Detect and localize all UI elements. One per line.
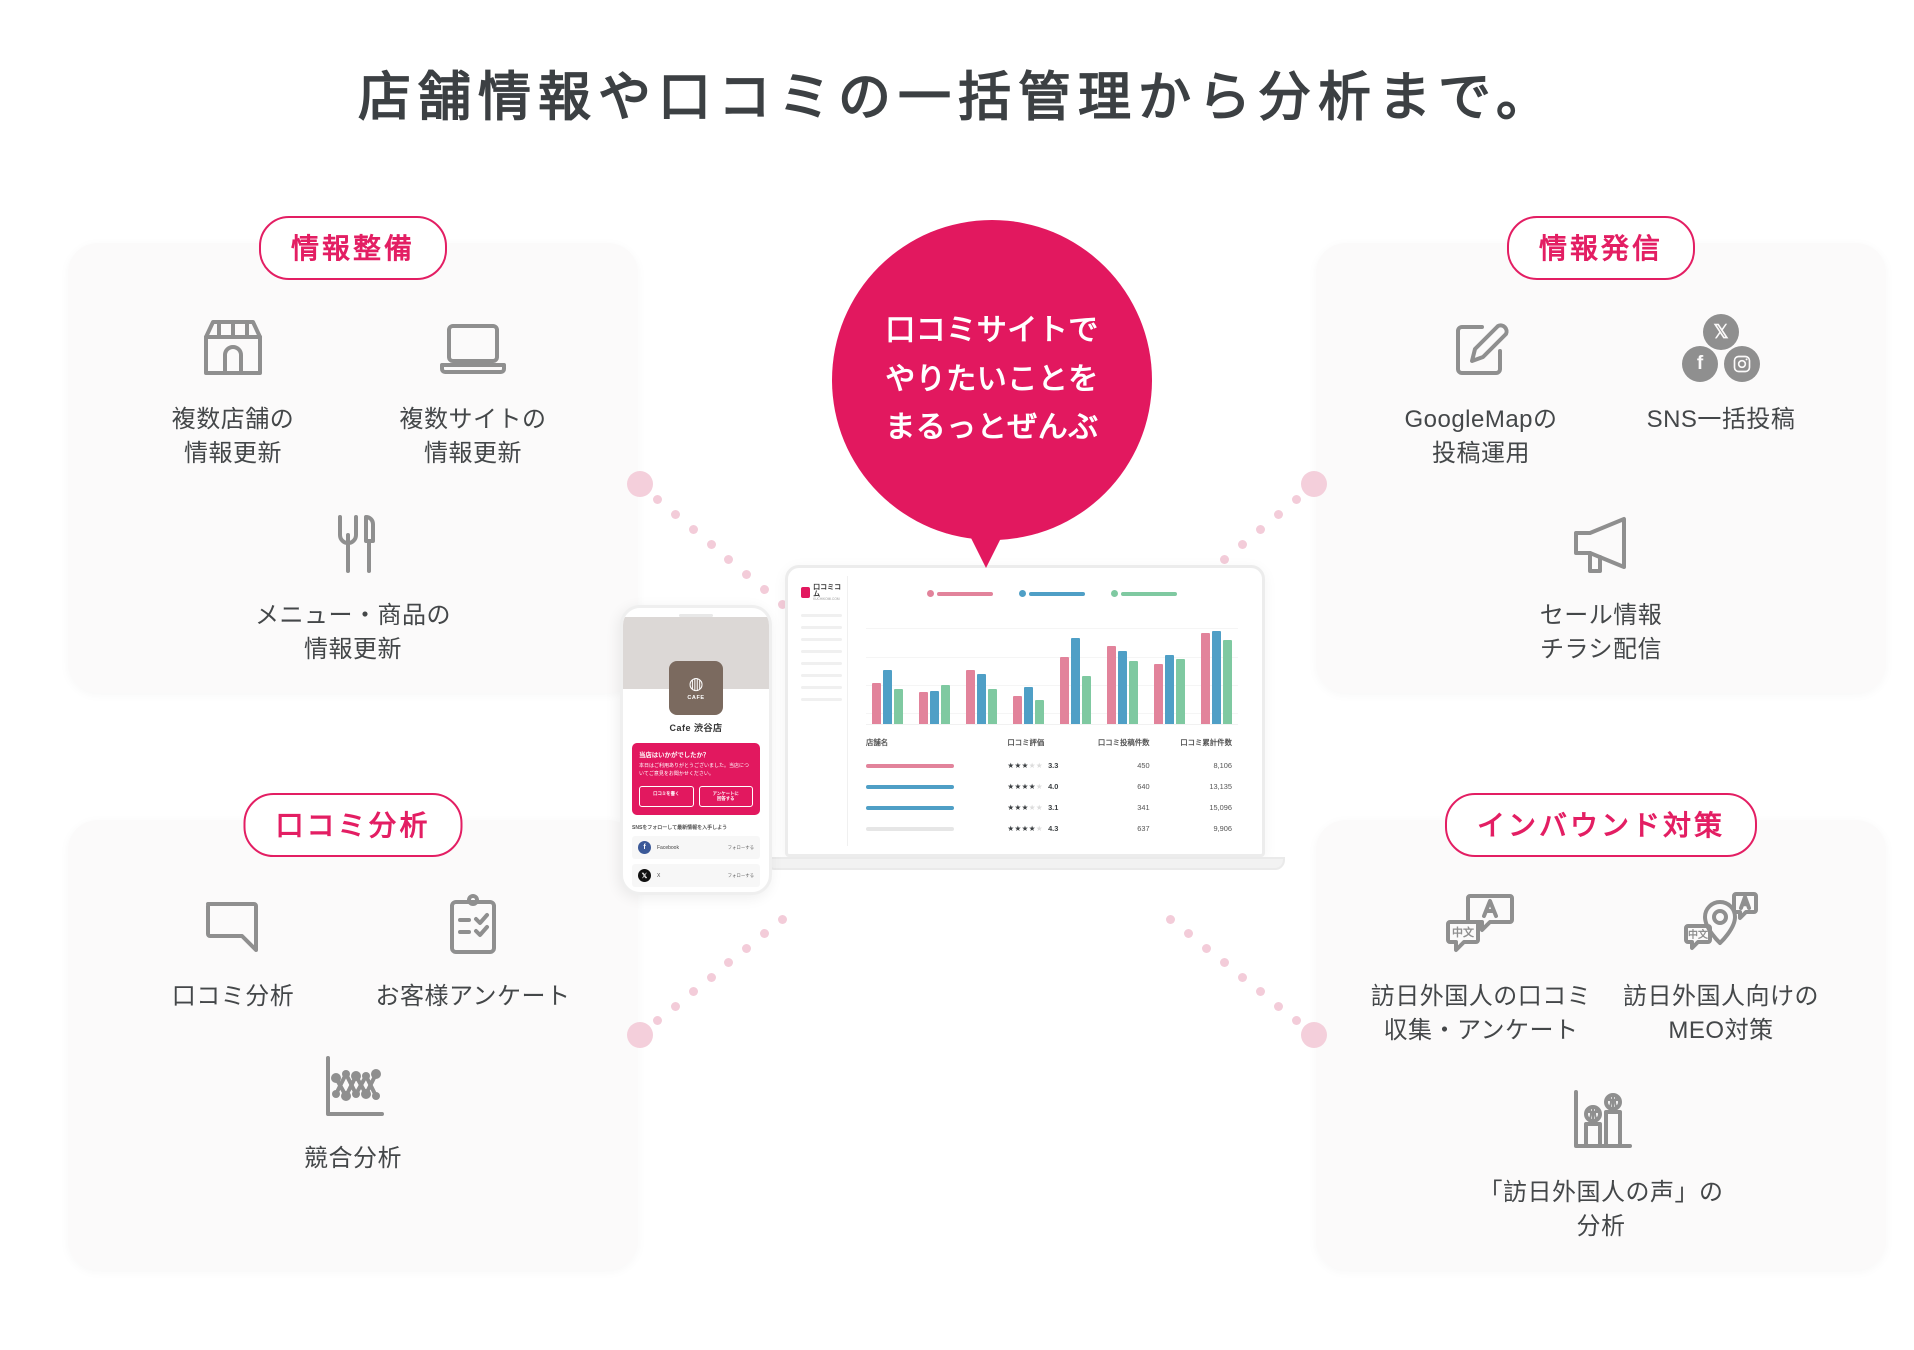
bar-group <box>1013 687 1044 724</box>
review-total-cell: 8,106 <box>1164 761 1238 770</box>
connector-dot <box>1238 973 1247 982</box>
bar-group <box>1107 646 1138 724</box>
store-name-cell <box>866 827 1007 831</box>
connector-dot <box>1238 540 1247 549</box>
review-count-cell: 637 <box>1089 824 1163 833</box>
connector-dot <box>671 510 680 519</box>
survey-buttons: 口コミを書くアンケートに 回答する <box>639 786 753 808</box>
sns-follow-row[interactable]: 𝕏Xフォローする <box>632 864 760 887</box>
connector-dot <box>1220 958 1229 967</box>
connector-dot <box>671 1002 680 1011</box>
feature-menu-product-update[interactable]: メニュー・商品の 情報更新 <box>68 501 638 667</box>
feature-foreign-voice-analysis[interactable]: 「訪日外国人の声」の 分析 <box>1316 1078 1886 1244</box>
table-column-header: 口コミ評価 <box>1007 737 1089 748</box>
feature-label: メニュー・商品の 情報更新 <box>255 599 451 667</box>
connector-dot <box>653 495 662 504</box>
feature-sns-bulk-post[interactable]: 𝕏 f SNS一括投稿 <box>1601 305 1841 471</box>
connector-anchor-dot <box>1301 1022 1327 1048</box>
chart-bar <box>872 683 881 724</box>
card-information-delivery: 情報発信 GoogleMapの 投稿運用 𝕏 f <box>1316 243 1886 693</box>
chart-gridline <box>866 628 1238 629</box>
avatar: ◍ CAFE <box>669 661 723 715</box>
phone-hero-image: ◍ CAFE <box>623 617 769 689</box>
rating-cell: ★★★★★3.3 <box>1007 761 1089 770</box>
store-name-cell <box>866 764 1007 768</box>
feature-label: 「訪日外国人の声」の 分析 <box>1479 1176 1724 1244</box>
legend-bar <box>1029 592 1085 596</box>
chart-bar <box>883 670 892 724</box>
x-icon: 𝕏 <box>638 869 651 882</box>
page-title: 店舗情報や口コミの一括管理から分析まで。 <box>0 55 1914 131</box>
store-review-table: 店舗名口コミ評価口コミ投稿件数口コミ累計件数 ★★★★★3.34508,106★… <box>866 737 1238 839</box>
dashboard-sidebar: 口コミコム KUCHIKOMI.COM <box>796 576 848 846</box>
table-row[interactable]: ★★★★★3.134115,096 <box>866 797 1238 818</box>
survey-title: 当店はいかがでしたか？ <box>639 750 753 759</box>
chart-bar <box>1201 633 1210 724</box>
legend-bar <box>937 592 993 596</box>
svg-text:中文: 中文 <box>1452 925 1475 939</box>
store-name-cell <box>866 806 1007 810</box>
follow-button[interactable]: フォローする <box>728 845 754 851</box>
connector-dot <box>1292 1016 1301 1025</box>
connector-dot <box>1220 555 1229 564</box>
star-rating-icon: ★★★★★ <box>1007 803 1043 812</box>
legend-dot-icon <box>1111 590 1118 597</box>
feature-label: 訪日外国人の口コミ 収集・アンケート <box>1371 980 1592 1048</box>
feature-label: お客様アンケート <box>375 980 570 1014</box>
chart-bar <box>1060 657 1069 724</box>
center-bubble: 口コミサイトで やりたいことを まるっとぜんぶ <box>832 220 1152 540</box>
legend-item[interactable] <box>1111 590 1177 597</box>
table-column-header: 口コミ累計件数 <box>1164 737 1238 748</box>
chart-bar <box>930 691 939 724</box>
star-rating-icon: ★★★★★ <box>1007 761 1043 770</box>
nav-item[interactable] <box>801 686 842 689</box>
connector-dot <box>724 555 733 564</box>
chart-bar <box>1082 676 1091 724</box>
chart-bar <box>1071 638 1080 724</box>
feature-foreign-review-collection[interactable]: 中文 訪日外国人の口コミ 収集・アンケート <box>1361 882 1601 1048</box>
device-mockup: 口コミコム KUCHIKOMI.COM <box>620 565 1320 935</box>
sns-name: Facebook <box>657 845 728 851</box>
facebook-icon: f <box>638 841 651 854</box>
feature-multi-store-update[interactable]: 複数店舗の 情報更新 <box>113 305 353 471</box>
feature-label: 複数店舗の 情報更新 <box>172 403 295 471</box>
review-total-cell: 13,135 <box>1164 782 1238 791</box>
table-row[interactable]: ★★★★★4.36379,906 <box>866 818 1238 839</box>
card-badge-information-delivery: 情報発信 <box>1507 216 1695 280</box>
chart-bar <box>1035 700 1044 724</box>
connector-dot <box>1274 510 1283 519</box>
feature-label: 競合分析 <box>304 1142 402 1176</box>
store-name-bar <box>866 827 954 831</box>
feature-competitor-analysis[interactable]: 競合分析 <box>68 1044 638 1176</box>
feature-customer-survey[interactable]: お客様アンケート <box>353 882 593 1014</box>
facebook-icon: f <box>1682 346 1718 382</box>
table-column-header: 店舗名 <box>866 737 1007 748</box>
dashboard-nav[interactable] <box>801 614 842 701</box>
avatar-label: CAFE <box>687 695 704 701</box>
chart-bar <box>1154 664 1163 724</box>
bar-chart <box>866 607 1238 725</box>
bar-group <box>872 670 903 724</box>
bar-group <box>1201 631 1232 724</box>
connector-dot <box>653 1016 662 1025</box>
connector-dot <box>689 987 698 996</box>
clipboard-checklist-icon <box>436 882 510 968</box>
dashboard-screen: 口コミコム KUCHIKOMI.COM <box>796 576 1254 846</box>
x-icon: 𝕏 <box>1703 314 1739 350</box>
sns-follow-row[interactable]: fFacebookフォローする <box>632 836 760 859</box>
bar-group <box>1154 655 1185 724</box>
table-row[interactable]: ★★★★★3.34508,106 <box>866 755 1238 776</box>
rating-value: 3.1 <box>1048 803 1058 812</box>
fork-knife-icon <box>316 501 390 587</box>
megaphone-icon <box>1564 501 1638 587</box>
store-name-cell <box>866 785 1007 789</box>
edit-pencil-icon <box>1444 305 1518 391</box>
chart-bar <box>1176 659 1185 724</box>
nav-item[interactable] <box>801 638 842 641</box>
connector-dot <box>707 973 716 982</box>
chart-bar <box>1212 631 1221 724</box>
survey-body: 本日はご利用ありがとうございました。当店についてご意見をお聞かせください。 <box>639 763 753 779</box>
connector-dot <box>742 944 751 953</box>
chart-bar <box>1129 661 1138 724</box>
bar-group <box>1060 638 1091 724</box>
table-body: ★★★★★3.34508,106★★★★★4.064013,135★★★★★3.… <box>866 755 1238 839</box>
star-rating-icon: ★★★★★ <box>1007 824 1043 833</box>
connector-dot <box>1292 495 1301 504</box>
legend-dot-icon <box>1019 590 1026 597</box>
follow-button[interactable]: フォローする <box>728 873 754 879</box>
chart-bar <box>919 692 928 724</box>
card-information-maintenance: 情報整備 複数店舗の 情報更新 複数サイトの 情報更新 <box>68 243 638 693</box>
connector-anchor-dot <box>627 1022 653 1048</box>
nav-item[interactable] <box>801 674 842 677</box>
translate-bubbles-icon: 中文 <box>1440 882 1522 968</box>
svg-text:中文: 中文 <box>1688 928 1709 941</box>
chart-bar <box>988 689 997 724</box>
feature-sale-flyer[interactable]: セール情報 チラシ配信 <box>1316 501 1886 667</box>
store-name-bar <box>866 785 954 789</box>
feature-review-analysis[interactable]: 口コミ分析 <box>113 882 353 1014</box>
legend-item[interactable] <box>927 590 993 597</box>
logo-mark-icon <box>801 587 810 598</box>
connector-anchor-dot <box>1301 471 1327 497</box>
rating-cell: ★★★★★4.3 <box>1007 824 1089 833</box>
logo-text: 口コミコム <box>813 584 842 598</box>
review-total-cell: 15,096 <box>1164 803 1238 812</box>
nav-item[interactable] <box>801 614 842 617</box>
laptop-mockup: 口コミコム KUCHIKOMI.COM <box>765 565 1285 895</box>
table-header: 店舗名口コミ評価口コミ投稿件数口コミ累計件数 <box>866 737 1238 755</box>
store-name-bar <box>866 806 954 810</box>
feature-label: 口コミ分析 <box>172 980 295 1014</box>
storefront-icon <box>196 305 270 391</box>
connector-dot <box>689 525 698 534</box>
connector-dot <box>724 958 733 967</box>
connector-dot <box>1256 525 1265 534</box>
review-count-cell: 640 <box>1089 782 1163 791</box>
scatter-chart-icon <box>316 1044 390 1130</box>
laptop-lid: 口コミコム KUCHIKOMI.COM <box>785 565 1265 857</box>
connector-dot <box>1202 944 1211 953</box>
nav-item[interactable] <box>801 626 842 629</box>
card-inbound-measures: インバウンド対策 中文 訪日外国人の口コミ 収集・アンケート <box>1316 820 1886 1270</box>
feature-multi-site-update[interactable]: 複数サイトの 情報更新 <box>353 305 593 471</box>
store-name-bar <box>866 764 954 768</box>
laptop-base <box>765 857 1285 870</box>
legend-item[interactable] <box>1019 590 1085 597</box>
globe-bar-chart-icon <box>1564 1078 1638 1164</box>
dashboard-main: 店舗名口コミ評価口コミ投稿件数口コミ累計件数 ★★★★★3.34508,106★… <box>848 576 1254 846</box>
logo-subtext: KUCHIKOMI.COM <box>813 598 842 602</box>
connector-anchor-dot <box>627 471 653 497</box>
nav-item[interactable] <box>801 662 842 665</box>
sns-icons: 𝕏 f <box>1682 305 1760 391</box>
connector-dot <box>1256 987 1265 996</box>
star-rating-icon: ★★★★★ <box>1007 782 1043 791</box>
connector-dot <box>1274 1002 1283 1011</box>
chart-bar <box>1107 646 1116 724</box>
review-count-cell: 341 <box>1089 803 1163 812</box>
feature-label: SNS一括投稿 <box>1647 403 1796 437</box>
rating-value: 3.3 <box>1048 761 1058 770</box>
sns-follow-list: fFacebookフォローする𝕏Xフォローする <box>623 836 769 887</box>
survey-action-button[interactable]: アンケートに 回答する <box>699 786 754 808</box>
chart-bar <box>966 670 975 724</box>
chart-bar <box>894 689 903 724</box>
table-column-header: 口コミ投稿件数 <box>1089 737 1163 748</box>
center-bubble-text: 口コミサイトで やりたいことを まるっとぜんぶ <box>885 307 1099 453</box>
card-badge-information-maintenance: 情報整備 <box>259 216 447 280</box>
review-total-cell: 9,906 <box>1164 824 1238 833</box>
card-badge-review-analysis: 口コミ分析 <box>243 793 462 857</box>
chart-bar <box>1013 696 1022 724</box>
legend-dot-icon <box>927 590 934 597</box>
laptop-icon <box>436 305 510 391</box>
instagram-icon <box>1724 346 1760 382</box>
rating-value: 4.0 <box>1048 782 1058 791</box>
rating-cell: ★★★★★4.0 <box>1007 782 1089 791</box>
sns-name: X <box>657 873 728 879</box>
chart-bar <box>1118 651 1127 724</box>
chart-bar <box>941 685 950 724</box>
rating-value: 4.3 <box>1048 824 1058 833</box>
card-badge-inbound-measures: インバウンド対策 <box>1445 793 1757 857</box>
chart-bar <box>1165 655 1174 724</box>
map-pin-translate-icon: 中文 <box>1680 882 1762 968</box>
feature-label: GoogleMapの 投稿運用 <box>1404 403 1557 471</box>
coffee-bean-icon: ◍ <box>689 675 704 692</box>
card-review-analysis: 口コミ分析 口コミ分析 お客様アンケート <box>68 820 638 1270</box>
shop-name: Cafe 渋谷店 <box>623 721 769 734</box>
review-count-cell: 450 <box>1089 761 1163 770</box>
chart-legend <box>866 590 1238 597</box>
survey-card: 当店はいかがでしたか？ 本日はご利用ありがとうございました。当店についてご意見を… <box>632 743 760 815</box>
feature-label: 訪日外国人向けの MEO対策 <box>1623 980 1819 1048</box>
feature-label: 複数サイトの 情報更新 <box>400 403 547 471</box>
survey-action-button[interactable]: 口コミを書く <box>639 786 694 808</box>
sns-follow-title: SNSをフォローして最新情報を入手しよう <box>632 824 760 831</box>
bar-group <box>966 670 997 724</box>
feature-foreign-meo[interactable]: 中文 訪日外国人向けの MEO対策 <box>1601 882 1841 1048</box>
connector-dot <box>707 540 716 549</box>
bar-group <box>919 685 950 724</box>
dashboard-logo: 口コミコム KUCHIKOMI.COM <box>801 584 842 602</box>
rating-cell: ★★★★★3.1 <box>1007 803 1089 812</box>
nav-item[interactable] <box>801 698 842 701</box>
speech-bubble-icon <box>196 882 270 968</box>
phone-mockup: ◍ CAFE Cafe 渋谷店 当店はいかがでしたか？ 本日はご利用ありがとうご… <box>620 605 772 895</box>
chart-bar <box>1024 687 1033 724</box>
nav-item[interactable] <box>801 650 842 653</box>
table-row[interactable]: ★★★★★4.064013,135 <box>866 776 1238 797</box>
feature-googlemap-posting[interactable]: GoogleMapの 投稿運用 <box>1361 305 1601 471</box>
legend-bar <box>1121 592 1177 596</box>
chart-bar <box>1223 640 1232 724</box>
feature-label: セール情報 チラシ配信 <box>1540 599 1663 667</box>
chart-bar <box>977 674 986 724</box>
